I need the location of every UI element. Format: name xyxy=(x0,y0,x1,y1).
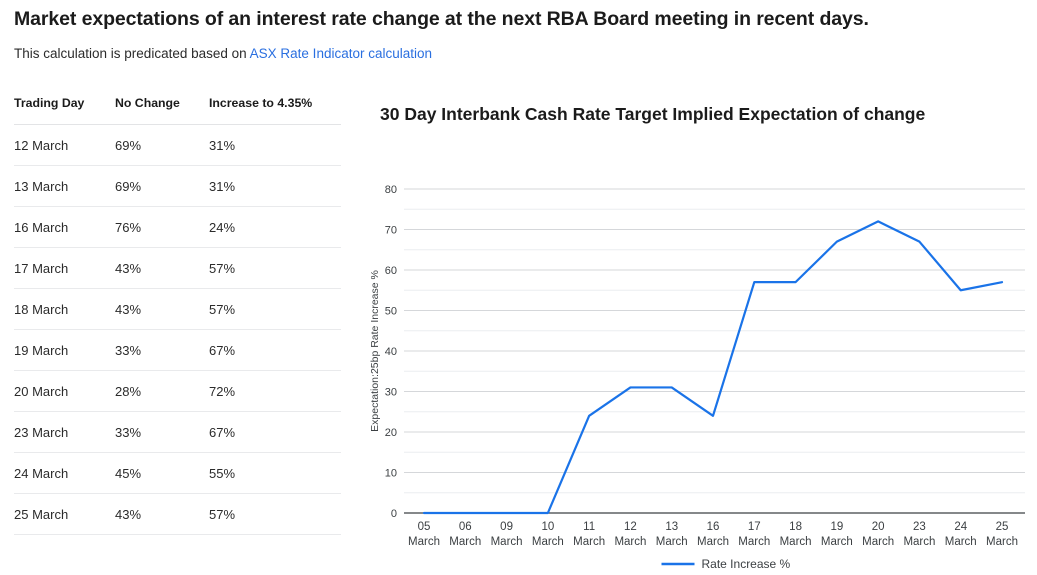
x-tick-label-month: March xyxy=(573,536,605,548)
page-title: Market expectations of an interest rate … xyxy=(14,6,1024,32)
x-tick-label-day: 16 xyxy=(707,521,720,533)
column-header-no-change: No Change xyxy=(115,92,209,125)
cell-no-change: 69% xyxy=(115,125,209,166)
cell-increase: 67% xyxy=(209,412,341,453)
y-tick-label: 40 xyxy=(385,346,397,358)
table-row: 25 March43%57% xyxy=(14,494,341,535)
y-axis-title: Expectation:25bp Rate Increase % xyxy=(369,270,381,432)
column-header-increase: Increase to 4.35% xyxy=(209,92,341,125)
cell-no-change: 45% xyxy=(115,453,209,494)
cell-increase: 31% xyxy=(209,125,341,166)
line-chart-svg: 01020304050607080 05March06March09March1… xyxy=(366,92,1032,572)
cell-trading-day: 19 March xyxy=(14,330,115,371)
x-tick-label-month: March xyxy=(449,536,481,548)
legend-label-rate-increase[interactable]: Rate Increase % xyxy=(702,557,791,571)
cell-increase: 72% xyxy=(209,371,341,412)
y-tick-label: 60 xyxy=(385,265,397,277)
x-tick-label-month: March xyxy=(614,536,646,548)
rates-table-container: Trading Day No Change Increase to 4.35% … xyxy=(14,92,341,535)
cell-no-change: 33% xyxy=(115,412,209,453)
table-row: 16 March76%24% xyxy=(14,207,341,248)
x-tick-label-day: 18 xyxy=(789,521,802,533)
cell-trading-day: 24 March xyxy=(14,453,115,494)
cell-increase: 57% xyxy=(209,289,341,330)
subtitle: This calculation is predicated based on … xyxy=(14,45,1024,63)
table-row: 23 March33%67% xyxy=(14,412,341,453)
column-header-trading-day: Trading Day xyxy=(14,92,115,125)
cell-trading-day: 23 March xyxy=(14,412,115,453)
table-row: 24 March45%55% xyxy=(14,453,341,494)
table-row: 18 March43%57% xyxy=(14,289,341,330)
cell-no-change: 76% xyxy=(115,207,209,248)
cell-increase: 55% xyxy=(209,453,341,494)
chart-panel: 30 Day Interbank Cash Rate Target Implie… xyxy=(366,92,1032,572)
cell-trading-day: 20 March xyxy=(14,371,115,412)
x-tick-label-month: March xyxy=(862,536,894,548)
x-tick-label-month: March xyxy=(697,536,729,548)
cell-trading-day: 17 March xyxy=(14,248,115,289)
rates-table: Trading Day No Change Increase to 4.35% … xyxy=(14,92,341,535)
y-tick-label: 70 xyxy=(385,225,397,237)
cell-no-change: 43% xyxy=(115,248,209,289)
x-tick-label-month: March xyxy=(491,536,523,548)
y-tick-label: 50 xyxy=(385,306,397,318)
asx-rate-indicator-link[interactable]: ASX Rate Indicator calculation xyxy=(250,46,432,61)
x-tick-label-day: 10 xyxy=(541,521,554,533)
cell-increase: 57% xyxy=(209,248,341,289)
y-axis-title-text: Expectation:25bp Rate Increase % xyxy=(369,270,381,432)
page-header: Market expectations of an interest rate … xyxy=(14,6,1024,63)
x-tick-label-day: 20 xyxy=(872,521,885,533)
table-row: 20 March28%72% xyxy=(14,371,341,412)
cell-increase: 31% xyxy=(209,166,341,207)
x-tick-label-day: 06 xyxy=(459,521,472,533)
cell-trading-day: 16 March xyxy=(14,207,115,248)
x-tick-label-day: 23 xyxy=(913,521,926,533)
x-tick-label-day: 13 xyxy=(665,521,678,533)
cell-no-change: 43% xyxy=(115,494,209,535)
y-tick-label: 30 xyxy=(385,387,397,399)
x-tick-label-month: March xyxy=(532,536,564,548)
cell-trading-day: 13 March xyxy=(14,166,115,207)
x-tick-label-month: March xyxy=(821,536,853,548)
table-row: 17 March43%57% xyxy=(14,248,341,289)
x-tick-label-day: 19 xyxy=(830,521,843,533)
subtitle-text: This calculation is predicated based on xyxy=(14,46,250,61)
table-row: 19 March33%67% xyxy=(14,330,341,371)
x-tick-label-month: March xyxy=(903,536,935,548)
cell-trading-day: 25 March xyxy=(14,494,115,535)
y-tick-label: 10 xyxy=(385,468,397,480)
data-series-lines xyxy=(424,221,1002,513)
x-tick-label-month: March xyxy=(780,536,812,548)
cell-trading-day: 18 March xyxy=(14,289,115,330)
series-line-rate-increase xyxy=(424,221,1002,513)
cell-increase: 67% xyxy=(209,330,341,371)
x-tick-label-month: March xyxy=(986,536,1018,548)
cell-trading-day: 12 March xyxy=(14,125,115,166)
chart-plot-region: 01020304050607080 05March06March09March1… xyxy=(366,92,1032,572)
cell-increase: 57% xyxy=(209,494,341,535)
x-tick-label-month: March xyxy=(656,536,688,548)
cell-no-change: 28% xyxy=(115,371,209,412)
x-tick-label-day: 24 xyxy=(954,521,967,533)
table-row: 12 March69%31% xyxy=(14,125,341,166)
y-tick-label: 0 xyxy=(391,508,397,520)
table-header-row: Trading Day No Change Increase to 4.35% xyxy=(14,92,341,125)
x-tick-label-month: March xyxy=(408,536,440,548)
y-axis-tick-labels: 01020304050607080 xyxy=(385,184,397,520)
x-tick-label-day: 09 xyxy=(500,521,513,533)
x-tick-label-day: 05 xyxy=(418,521,431,533)
cell-no-change: 69% xyxy=(115,166,209,207)
x-axis-tick-labels: 05March06March09March10March11March12Mar… xyxy=(408,521,1018,548)
table-header: Trading Day No Change Increase to 4.35% xyxy=(14,92,341,125)
x-tick-label-month: March xyxy=(945,536,977,548)
table-row: 13 March69%31% xyxy=(14,166,341,207)
x-tick-label-day: 25 xyxy=(996,521,1009,533)
cell-increase: 24% xyxy=(209,207,341,248)
x-tick-label-day: 17 xyxy=(748,521,761,533)
x-tick-label-month: March xyxy=(738,536,770,548)
table-body: 12 March69%31%13 March69%31%16 March76%2… xyxy=(14,125,341,535)
y-tick-label: 80 xyxy=(385,184,397,196)
cell-no-change: 43% xyxy=(115,289,209,330)
cell-no-change: 33% xyxy=(115,330,209,371)
chart-legend: Rate Increase % xyxy=(662,557,791,571)
y-tick-label: 20 xyxy=(385,427,397,439)
x-tick-label-day: 11 xyxy=(583,521,595,533)
x-tick-label-day: 12 xyxy=(624,521,637,533)
